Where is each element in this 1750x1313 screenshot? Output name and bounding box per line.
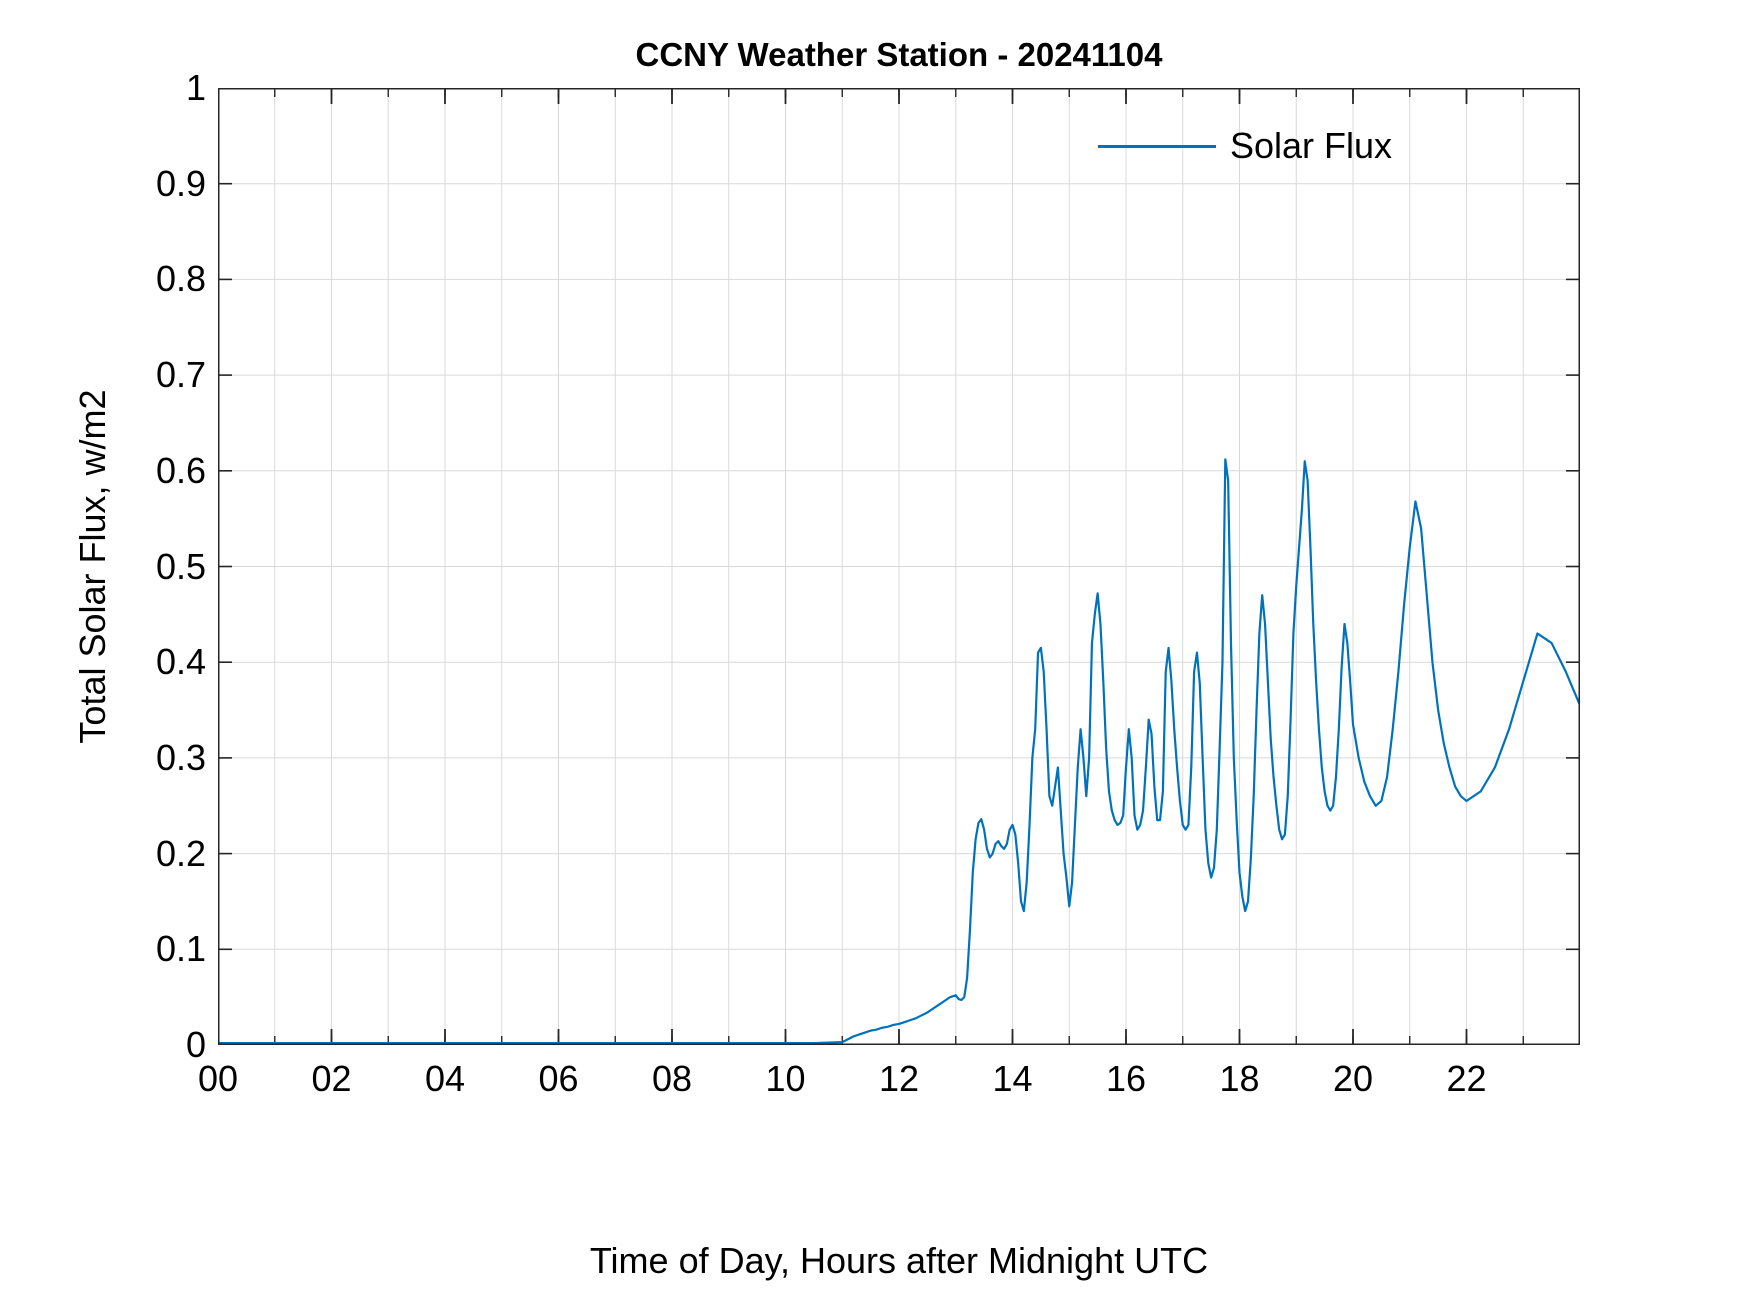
page-title: CCNY Weather Station - 20241104	[218, 36, 1580, 74]
x-axis-label: Time of Day, Hours after Midnight UTC	[218, 1240, 1580, 1282]
y-tick-label: 0.1	[106, 928, 206, 970]
y-tick-label: 0.7	[106, 354, 206, 396]
legend-line-swatch	[1098, 145, 1216, 148]
y-tick-label: 0.3	[106, 737, 206, 779]
x-tick-label: 04	[385, 1058, 505, 1100]
x-tick-label: 14	[953, 1058, 1073, 1100]
chart-legend: Solar Flux	[1098, 110, 1568, 182]
y-tick-label: 1	[106, 67, 206, 109]
solar-flux-line-chart	[218, 88, 1580, 1045]
x-tick-label: 18	[1180, 1058, 1300, 1100]
y-tick-label: 0.9	[106, 163, 206, 205]
y-tick-label: 0.6	[106, 450, 206, 492]
legend-item-label: Solar Flux	[1230, 125, 1392, 167]
x-tick-label: 08	[612, 1058, 732, 1100]
x-tick-label: 22	[1407, 1058, 1527, 1100]
grid-lines	[218, 88, 1580, 1045]
y-tick-label: 0.2	[106, 833, 206, 875]
x-tick-label: 12	[839, 1058, 959, 1100]
x-tick-label: 10	[726, 1058, 846, 1100]
y-tick-label: 0.4	[106, 641, 206, 683]
x-tick-label: 02	[272, 1058, 392, 1100]
x-tick-label: 16	[1066, 1058, 1186, 1100]
x-tick-label: 20	[1293, 1058, 1413, 1100]
y-tick-label: 0.8	[106, 258, 206, 300]
x-tick-label: 06	[499, 1058, 619, 1100]
y-tick-label: 0.5	[106, 546, 206, 588]
plot-area	[218, 88, 1580, 1045]
x-tick-label: 00	[158, 1058, 278, 1100]
x-axis-tick-labels: 000204060810121416182022	[218, 1058, 1580, 1104]
y-axis-tick-labels: 00.10.20.30.40.50.60.70.80.91	[98, 88, 206, 1045]
figure-canvas: CCNY Weather Station - 20241104 Total So…	[0, 0, 1750, 1313]
